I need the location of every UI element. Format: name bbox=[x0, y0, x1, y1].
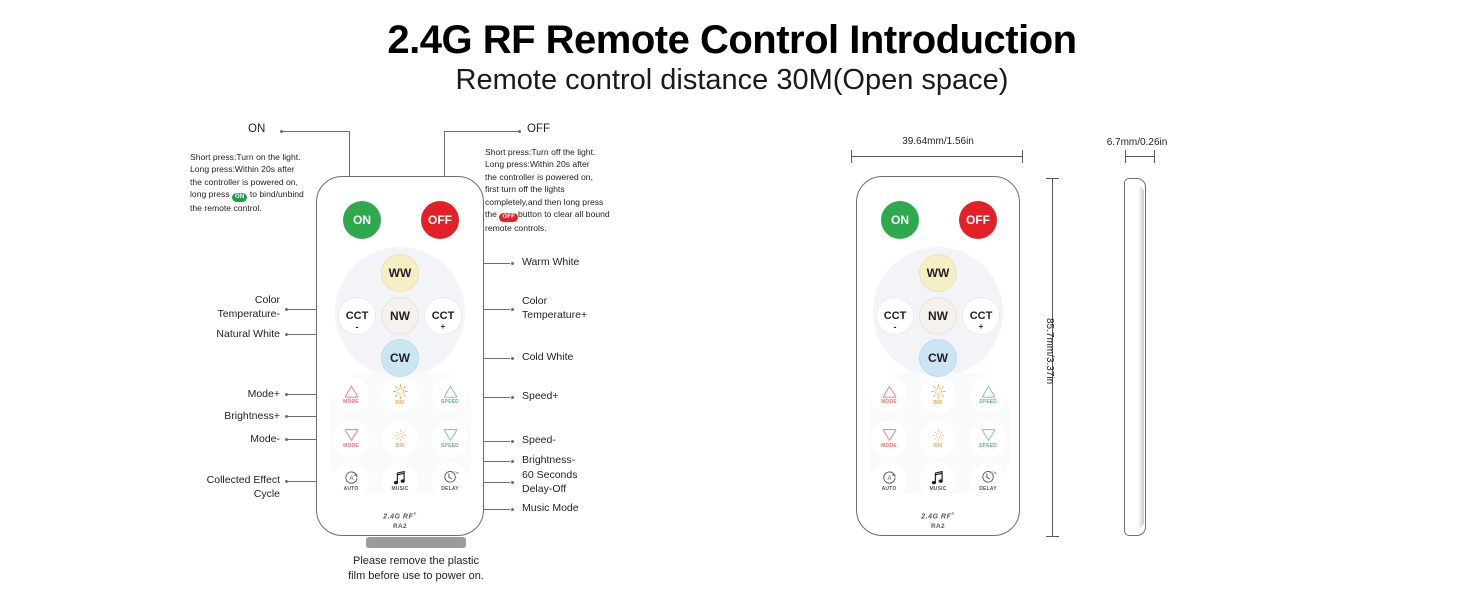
triangle-down-icon bbox=[443, 429, 458, 442]
label-music-mode: Music Mode bbox=[522, 502, 579, 516]
on-desc-line4b: to bind/unbind bbox=[247, 189, 303, 199]
label-collected-effect-cycle: Collected Effect Cycle bbox=[170, 474, 280, 502]
cct-minus-label-right: CCT bbox=[884, 311, 907, 322]
sun-dim-icon bbox=[932, 429, 945, 442]
cct-minus-label: CCT bbox=[346, 311, 369, 322]
dimension-width-label: 39.64mm/1.56in bbox=[848, 136, 1028, 147]
auto-cycle-icon: A bbox=[344, 470, 359, 485]
remote-front-view: ON OFF WW NW CW CCT - CCT + MODE bbox=[856, 176, 1020, 536]
cct-minus-sign-right: - bbox=[877, 322, 913, 332]
remote-side-view-shading bbox=[1138, 186, 1144, 528]
speed-down-label-right: SPEED bbox=[979, 443, 997, 449]
music-label: MUSIC bbox=[391, 486, 408, 492]
on-desc-line4a: long press bbox=[190, 189, 232, 199]
label-speed-minus: Speed- bbox=[522, 434, 556, 448]
plastic-film-note: Please remove the plastic film before us… bbox=[306, 554, 526, 584]
off-desc-line5: completely,and then long press bbox=[485, 196, 625, 208]
on-desc-line3: the controller is powered on, bbox=[190, 176, 330, 188]
label-ct-plus-dot bbox=[511, 308, 514, 311]
speed-up-label: SPEED bbox=[441, 399, 459, 405]
mode-down-button-right[interactable]: MODE bbox=[871, 421, 907, 457]
label-speed-plus: Speed+ bbox=[522, 390, 559, 404]
mode-down-label: MODE bbox=[343, 443, 359, 449]
speed-down-label: SPEED bbox=[441, 443, 459, 449]
triangle-down-icon bbox=[882, 429, 897, 442]
dimension-width-tick-right bbox=[1022, 150, 1023, 163]
dimension-width-line bbox=[851, 156, 1023, 157]
mode-up-button[interactable]: MODE bbox=[333, 377, 369, 413]
warm-white-button[interactable]: WW bbox=[381, 254, 419, 292]
warm-white-button-right[interactable]: WW bbox=[919, 254, 957, 292]
off-desc-line6: the OFFbutton to clear all bound bbox=[485, 208, 625, 222]
brand-logo-text-right: 2.4G RF bbox=[921, 513, 951, 520]
page-title: 2.4G RF Remote Control Introduction bbox=[0, 18, 1464, 63]
cct-plus-label-right: CCT bbox=[970, 311, 993, 322]
inline-on-badge: ON bbox=[232, 193, 247, 202]
off-desc-line1: Short press:Turn off the light. bbox=[485, 146, 625, 158]
off-desc-line6a: the bbox=[485, 209, 499, 219]
mode-down-label-right: MODE bbox=[881, 443, 897, 449]
brightness-down-label-right: BRI bbox=[933, 443, 942, 449]
auto-label: AUTO bbox=[344, 486, 359, 492]
auto-label-right: AUTO bbox=[882, 486, 897, 492]
speed-up-button[interactable]: SPEED bbox=[432, 377, 468, 413]
mode-up-button-right[interactable]: MODE bbox=[871, 377, 907, 413]
natural-white-button-right[interactable]: NW bbox=[919, 297, 957, 335]
mode-up-label-right: MODE bbox=[881, 399, 897, 405]
label-delay-dot bbox=[511, 481, 514, 484]
label-cold-white: Cold White bbox=[522, 351, 573, 365]
on-desc-line5: the remote control. bbox=[190, 202, 330, 214]
label-music-dot bbox=[511, 508, 514, 511]
dimension-height-tick-top bbox=[1046, 178, 1059, 179]
dimension-thickness-label: 6.7mm/0.26in bbox=[1096, 137, 1178, 148]
off-desc-line7: remote controls. bbox=[485, 222, 625, 234]
auto-button[interactable]: A AUTO bbox=[333, 463, 369, 499]
brightness-down-button-right[interactable]: BRI bbox=[920, 421, 956, 457]
brand-logo-text: 2.4G RF bbox=[383, 513, 413, 520]
auto-cycle-icon: A bbox=[882, 470, 897, 485]
speed-up-button-right[interactable]: SPEED bbox=[970, 377, 1006, 413]
brightness-down-button[interactable]: BRI bbox=[382, 421, 418, 457]
label-brightness-minus: Brightness- bbox=[522, 454, 575, 468]
label-natural-white: Natural White bbox=[180, 328, 280, 342]
brightness-up-button[interactable]: BRI bbox=[382, 377, 418, 413]
brightness-up-button-right[interactable]: BRI bbox=[920, 377, 956, 413]
cct-plus-label: CCT bbox=[432, 311, 455, 322]
music-note-icon bbox=[393, 470, 407, 485]
label-warm-white: Warm White bbox=[522, 256, 579, 270]
dimension-thickness-line bbox=[1125, 156, 1155, 157]
inline-off-badge: OFF bbox=[499, 213, 518, 222]
triangle-down-icon bbox=[344, 429, 359, 442]
on-desc-line1: Short press:Turn on the light. bbox=[190, 151, 330, 163]
page-subtitle: Remote control distance 30M(Open space) bbox=[0, 64, 1464, 97]
label-mode-minus: Mode- bbox=[180, 433, 280, 447]
power-on-button-right[interactable]: ON bbox=[881, 201, 919, 239]
power-off-button-right[interactable]: OFF bbox=[959, 201, 997, 239]
power-on-button[interactable]: ON bbox=[343, 201, 381, 239]
cct-minus-sign: - bbox=[339, 322, 375, 332]
label-color-temperature-minus: Color Temperature- bbox=[180, 294, 280, 322]
speed-up-label-right: SPEED bbox=[979, 399, 997, 405]
music-label-right: MUSIC bbox=[929, 486, 946, 492]
model-number-right: RA2 bbox=[857, 523, 1019, 530]
music-note-icon bbox=[931, 470, 945, 485]
label-brightness-plus: Brightness+ bbox=[170, 410, 280, 424]
triangle-up-icon bbox=[443, 385, 458, 398]
dimension-thickness-tick-right bbox=[1154, 150, 1155, 163]
page-root: 2.4G RF Remote Control Introduction Remo… bbox=[0, 0, 1464, 600]
natural-white-button[interactable]: NW bbox=[381, 297, 419, 335]
cct-plus-sign-right: + bbox=[963, 322, 999, 331]
label-speed-minus-dot bbox=[511, 440, 514, 443]
off-desc-line4: first turn off the lights bbox=[485, 183, 625, 195]
callout-on-description: Short press:Turn on the light. Long pres… bbox=[190, 151, 330, 215]
dimension-height-label: 85.7mm/3.37in bbox=[1044, 318, 1055, 384]
remote-main-body: ON OFF WW NW CW CCT - CCT + MODE bbox=[316, 176, 484, 536]
on-desc-line2: Long press:Within 20s after bbox=[190, 163, 330, 175]
delay-button-right[interactable]: 60s DELAY bbox=[970, 463, 1006, 499]
brand-logo-sup: ® bbox=[413, 511, 416, 516]
svg-text:60s: 60s bbox=[452, 470, 458, 475]
callout-on-label: ON bbox=[248, 123, 265, 135]
cct-plus-button-right[interactable]: CCT + bbox=[962, 297, 1000, 335]
brightness-down-label: BRI bbox=[395, 443, 404, 449]
brand-logo: 2.4G RF® bbox=[317, 511, 483, 520]
music-button[interactable]: MUSIC bbox=[382, 463, 418, 499]
callout-on-leader-h bbox=[283, 131, 350, 132]
label-60s-delay-off: 60 Seconds Delay-Off bbox=[522, 469, 577, 497]
label-color-temperature-plus: Color Temperature+ bbox=[522, 295, 587, 323]
svg-text:A: A bbox=[887, 476, 891, 482]
triangle-up-icon bbox=[882, 385, 897, 398]
dimension-thickness-tick-left bbox=[1125, 150, 1126, 163]
cct-minus-button-right[interactable]: CCT - bbox=[876, 297, 914, 335]
callout-off-leader-h bbox=[444, 131, 518, 132]
sun-dim-icon bbox=[394, 429, 407, 442]
sun-bright-icon bbox=[931, 384, 946, 399]
speed-down-button[interactable]: SPEED bbox=[432, 421, 468, 457]
label-bri-minus-dot bbox=[511, 460, 514, 463]
brightness-up-label: BRI bbox=[395, 400, 404, 406]
cold-white-button-right[interactable]: CW bbox=[919, 339, 957, 377]
mode-up-label: MODE bbox=[343, 399, 359, 405]
triangle-up-icon bbox=[981, 385, 996, 398]
cct-plus-sign: + bbox=[425, 322, 461, 331]
svg-text:60s: 60s bbox=[990, 470, 996, 475]
brand-logo-sup-right: ® bbox=[951, 511, 954, 516]
off-desc-line3: the controller is powered on, bbox=[485, 171, 625, 183]
power-off-button[interactable]: OFF bbox=[421, 201, 459, 239]
label-speed-plus-dot bbox=[511, 396, 514, 399]
mode-down-button[interactable]: MODE bbox=[333, 421, 369, 457]
clock-60s-icon: 60s bbox=[442, 470, 459, 485]
on-desc-line4: long press ON to bind/unbind bbox=[190, 188, 330, 202]
off-desc-line6b: button to clear all bound bbox=[518, 209, 610, 219]
auto-button-right[interactable]: A AUTO bbox=[871, 463, 907, 499]
sun-bright-icon bbox=[393, 384, 408, 399]
triangle-down-icon bbox=[981, 429, 996, 442]
brand-logo-right: 2.4G RF® bbox=[857, 511, 1019, 520]
cct-plus-button[interactable]: CCT + bbox=[424, 297, 462, 335]
delay-button[interactable]: 60s DELAY bbox=[432, 463, 468, 499]
delay-label-right: DELAY bbox=[979, 486, 997, 492]
triangle-up-icon bbox=[344, 385, 359, 398]
clock-60s-icon: 60s bbox=[980, 470, 997, 485]
brightness-up-label-right: BRI bbox=[933, 400, 942, 406]
label-ww-dot bbox=[511, 262, 514, 265]
callout-off-label: OFF bbox=[527, 123, 550, 135]
callout-off-dot bbox=[518, 130, 521, 133]
plastic-film-tab bbox=[366, 537, 466, 548]
off-desc-line2: Long press:Within 20s after bbox=[485, 158, 625, 170]
callout-off-description: Short press:Turn off the light. Long pre… bbox=[485, 146, 625, 235]
svg-text:A: A bbox=[349, 476, 353, 482]
cct-minus-button[interactable]: CCT - bbox=[338, 297, 376, 335]
dimension-height-tick-bottom bbox=[1046, 536, 1059, 537]
speed-down-button-right[interactable]: SPEED bbox=[970, 421, 1006, 457]
delay-label: DELAY bbox=[441, 486, 459, 492]
cold-white-button[interactable]: CW bbox=[381, 339, 419, 377]
model-number: RA2 bbox=[317, 523, 483, 530]
label-mode-plus: Mode+ bbox=[180, 388, 280, 402]
dimension-width-tick-left bbox=[851, 150, 852, 163]
label-cw-dot bbox=[511, 357, 514, 360]
music-button-right[interactable]: MUSIC bbox=[920, 463, 956, 499]
